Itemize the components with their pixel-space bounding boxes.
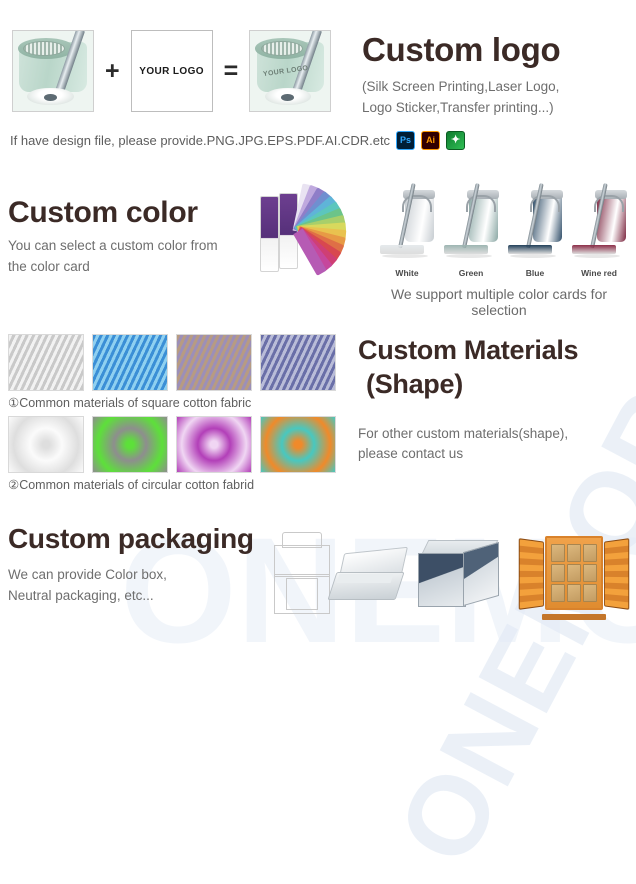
open-mailer-box-icon	[332, 550, 406, 602]
custom-color-subtitle-line2: the color card	[8, 257, 258, 278]
variant-label: Green	[442, 268, 500, 278]
color-variants-row: WhiteGreenBlueWine red	[378, 182, 633, 282]
material-swatch-grid: ①Common materials of square cotton fabri…	[8, 334, 338, 498]
custom-materials-heading-line1: Custom Materials	[358, 335, 578, 365]
custom-materials-subtitle: For other custom materials(shape), pleas…	[358, 424, 636, 466]
product-image-branded: YOUR LOGO	[249, 30, 331, 112]
custom-packaging-subtitle-line2: Neutral packaging, etc...	[8, 586, 268, 607]
photoshop-icon: Ps	[396, 131, 415, 150]
plus-icon: +	[103, 59, 122, 84]
section-custom-packaging: Custom packaging We can provide Color bo…	[0, 510, 636, 637]
swatch-white-cotton-strands	[8, 416, 84, 473]
color-card-caption: We support multiple color cards for sele…	[362, 286, 636, 318]
carton-box	[583, 544, 597, 562]
spin-mop-illustration	[13, 31, 93, 111]
color-variant-blue: Blue	[506, 182, 564, 264]
coreldraw-icon: ✦	[446, 131, 465, 150]
custom-packaging-subtitle-line1: We can provide Color box,	[8, 565, 268, 586]
carton-box	[583, 584, 597, 602]
equals-icon: =	[222, 59, 241, 84]
color-variant-white: White	[378, 182, 436, 264]
color-variant-green: Green	[442, 182, 500, 264]
shipping-container-icon	[518, 536, 630, 616]
packaging-graphics-row	[268, 522, 636, 627]
carton-box	[551, 564, 565, 582]
swatch-caption-square: ①Common materials of square cotton fabri…	[8, 395, 338, 410]
custom-color-text-block: Custom color You can select a custom col…	[8, 196, 258, 278]
swatch-row-square	[8, 334, 338, 391]
swatch-row-circular	[8, 416, 338, 473]
navy-closed-box-icon	[418, 540, 502, 612]
carton-box	[583, 564, 597, 582]
custom-packaging-subtitle: We can provide Color box, Neutral packag…	[8, 565, 268, 607]
container-door-left	[519, 538, 544, 610]
container-body	[545, 536, 603, 610]
logo-placeholder-box: YOUR LOGO	[131, 30, 213, 112]
swatch-purple-fiber	[260, 334, 336, 391]
die-cut-template-icon	[274, 532, 330, 614]
swatch-white-chenille	[8, 334, 84, 391]
carton-box	[567, 544, 581, 562]
swatch-blue-microfiber	[92, 334, 168, 391]
custom-logo-text-block: Custom logo (Silk Screen Printing,Laser …	[362, 32, 627, 119]
variant-label: White	[378, 268, 436, 278]
section-custom-logo: + YOUR LOGO = YOUR LOGO Custom logo (Sil…	[0, 0, 636, 165]
swatch-multicolor-round-heads	[260, 416, 336, 473]
logo-equation-row: + YOUR LOGO = YOUR LOGO	[12, 30, 331, 112]
custom-materials-subtitle-line2: please contact us	[358, 444, 636, 465]
fan-cover-left	[260, 196, 279, 272]
swatch-multicolor-chenille	[176, 334, 252, 391]
custom-materials-text-block: Custom Materials (Shape) For other custo…	[358, 334, 636, 465]
custom-materials-heading: Custom Materials (Shape)	[358, 334, 636, 402]
color-variant-wine-red: Wine red	[570, 182, 628, 264]
container-base	[542, 614, 606, 620]
swatch-purple-round-head	[176, 416, 252, 473]
custom-logo-subtitle-line1: (Silk Screen Printing,Laser Logo,	[362, 77, 627, 98]
custom-color-heading: Custom color	[8, 196, 258, 229]
swatch-gray-spin-head	[92, 416, 168, 473]
spin-mop-branded-illustration: YOUR LOGO	[250, 31, 330, 111]
variant-mop-plate	[380, 245, 424, 254]
carton-box	[551, 584, 565, 602]
custom-logo-heading: Custom logo	[362, 32, 627, 68]
swatch-caption-circular: ②Common materials of circular cotton fab…	[8, 477, 338, 492]
carton-box	[567, 584, 581, 602]
custom-color-subtitle-line1: You can select a custom color from	[8, 236, 258, 257]
variant-label: Blue	[506, 268, 564, 278]
product-image-plain	[12, 30, 94, 112]
design-file-note-row: If have design file, please provide.PNG.…	[10, 131, 465, 150]
carton-box	[551, 544, 565, 562]
variant-mop-plate	[444, 245, 488, 254]
custom-packaging-text-block: Custom packaging We can provide Color bo…	[8, 524, 268, 607]
custom-color-subtitle: You can select a custom color from the c…	[8, 236, 258, 278]
container-cartons	[551, 544, 597, 602]
custom-materials-subtitle-line1: For other custom materials(shape),	[358, 424, 636, 445]
pantone-fan-deck-image	[258, 190, 366, 275]
custom-packaging-heading: Custom packaging	[8, 524, 268, 555]
custom-logo-subtitle-line2: Logo Sticker,Transfer printing...)	[362, 98, 627, 119]
container-door-right	[604, 538, 629, 610]
section-custom-color: Custom color You can select a custom col…	[0, 168, 636, 313]
section-custom-materials: ①Common materials of square cotton fabri…	[0, 330, 636, 505]
variant-mop-plate	[572, 245, 616, 254]
carton-box	[567, 564, 581, 582]
infographic-page: ONEMORE + YOUR LOGO = YOUR LOGO	[0, 0, 636, 637]
variant-mop-plate	[508, 245, 552, 254]
custom-materials-heading-line2: (Shape)	[358, 368, 636, 402]
logo-placeholder-text: YOUR LOGO	[139, 66, 204, 77]
variant-label: Wine red	[570, 268, 628, 278]
illustrator-icon: Ai	[421, 131, 440, 150]
custom-logo-subtitle: (Silk Screen Printing,Laser Logo, Logo S…	[362, 77, 627, 119]
design-file-note: If have design file, please provide.PNG.…	[10, 133, 390, 148]
